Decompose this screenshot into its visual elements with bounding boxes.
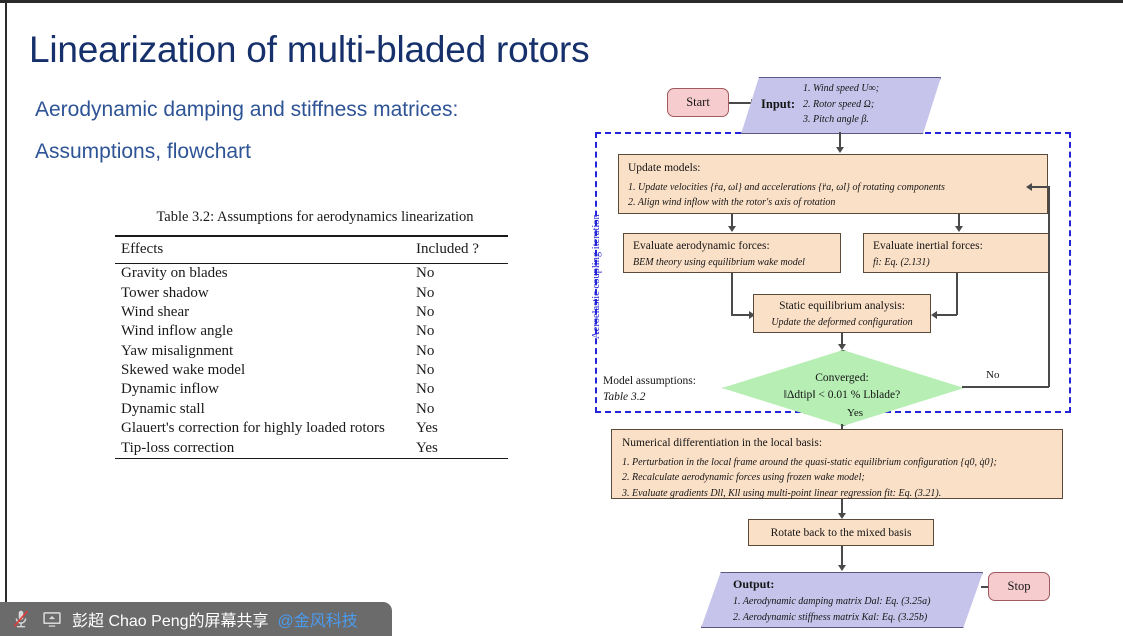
edge-aero-down <box>731 273 733 315</box>
input-node[interactable]: Input: 1. Wind speed U∞; 2. Rotor speed … <box>741 77 939 132</box>
decision-line-2: ‖Δdtip‖ < 0.01 % Lblade? <box>784 387 900 404</box>
inertial-forces-title: Evaluate inertial forces: <box>873 239 1039 255</box>
update-models-node[interactable]: Update models: 1. Update velocities {ṙa,… <box>618 154 1048 214</box>
table-row: Tip-loss correctionYes <box>115 438 508 458</box>
table-cell-included: No <box>412 361 508 380</box>
slide-subtitle-primary: Aerodynamic damping and stiffness matric… <box>35 98 458 122</box>
input-item: 2. Rotor speed Ω; <box>803 97 879 113</box>
aeroelastic-flowchart: Aeroelastic coupling iteration Start Inp… <box>583 69 1123 629</box>
table-cell-included: No <box>412 303 508 322</box>
rotate-back-node[interactable]: Rotate back to the mixed basis <box>748 519 934 546</box>
input-node-title: Input: <box>761 97 795 112</box>
table-cell-effect: Tip-loss correction <box>115 438 412 458</box>
output-node-items: 1. Aerodynamic damping matrix Dal: Eq. (… <box>733 594 930 625</box>
edge-rotate-to-output <box>841 546 843 567</box>
arrowhead-update-aero <box>728 226 736 232</box>
table-caption: Table 3.2: Assumptions for aerodynamics … <box>115 209 515 226</box>
evaluate-inertial-forces-node[interactable]: Evaluate inertial forces: fi: Eq. (2.131… <box>863 233 1049 273</box>
static-eq-title: Static equilibrium analysis: <box>763 299 921 315</box>
arrowhead-rotate-output <box>838 565 846 571</box>
table-row: Wind inflow angleNo <box>115 322 508 341</box>
model-assumptions-note: Model assumptions: Table 3.2 <box>603 373 696 405</box>
presentation-slide: Linearization of multi-bladed rotors Aer… <box>7 3 1123 636</box>
decision-line-1: Converged: <box>815 370 868 387</box>
assumptions-table: Effects Included ? Gravity on bladesNoTo… <box>115 235 508 459</box>
input-node-items: 1. Wind speed U∞; 2. Rotor speed Ω; 3. P… <box>803 81 879 128</box>
update-models-item: 2. Align wind inflow with the rotor's ax… <box>628 195 1038 211</box>
numdiff-item: 2. Recalculate aerodynamic forces using … <box>622 470 1052 486</box>
aero-forces-title: Evaluate aerodynamic forces: <box>633 239 831 255</box>
arrowhead-input-update <box>836 147 844 153</box>
table-cell-included: No <box>412 342 508 361</box>
loop-region-label: Aeroelastic coupling iteration <box>591 214 602 339</box>
screen-share-presenter-label: 彭超 Chao Peng的屏幕共享 <box>72 607 269 631</box>
slide-subtitle-secondary: Assumptions, flowchart <box>35 140 251 164</box>
screen-share-host-label: @金风科技 <box>278 607 358 631</box>
model-assumptions-ref: Table 3.2 <box>603 389 696 405</box>
table-cell-included: No <box>412 322 508 341</box>
table-body: Gravity on bladesNoTower shadowNoWind sh… <box>115 264 508 459</box>
column-header-included: Included ? <box>412 236 508 264</box>
table-cell-effect: Tower shadow <box>115 283 412 302</box>
static-equilibrium-node[interactable]: Static equilibrium analysis: Update the … <box>753 294 931 333</box>
table-cell-effect: Glauert's correction for highly loaded r… <box>115 419 412 438</box>
table-cell-included: Yes <box>412 419 508 438</box>
input-item: 1. Wind speed U∞; <box>803 81 879 97</box>
model-assumptions-title: Model assumptions: <box>603 373 696 389</box>
screen-share-taskbar[interactable]: 彭超 Chao Peng的屏幕共享 @金风科技 <box>0 602 392 636</box>
start-node[interactable]: Start <box>667 88 729 117</box>
arrowhead-inertial-static <box>931 311 937 319</box>
aero-forces-sub: BEM theory using equilibrium wake model <box>633 255 831 270</box>
numerical-differentiation-node[interactable]: Numerical differentiation in the local b… <box>611 429 1063 499</box>
assumptions-table-block: Table 3.2: Assumptions for aerodynamics … <box>115 209 515 459</box>
convergence-decision-node[interactable]: Converged: ‖Δdtip‖ < 0.01 % Lblade? <box>722 350 962 424</box>
table-row: Wind shearNo <box>115 303 508 322</box>
page-title: Linearization of multi-bladed rotors <box>29 29 589 71</box>
table-cell-included: No <box>412 380 508 399</box>
table-cell-included: No <box>412 400 508 419</box>
update-models-title: Update models: <box>628 161 1038 177</box>
table-cell-included: No <box>412 264 508 284</box>
table-header: Effects Included ? <box>115 236 508 264</box>
screen-share-icon[interactable] <box>41 608 63 630</box>
numdiff-items: 1. Perturbation in the local frame aroun… <box>622 455 1052 502</box>
update-models-items: 1. Update velocities {ṙa, ωl} and accele… <box>628 180 1038 211</box>
table-cell-effect: Dynamic inflow <box>115 380 412 399</box>
stop-node-label: Stop <box>1008 579 1031 594</box>
edge-inertial-down <box>956 273 958 315</box>
arrowhead-update-inertial <box>955 226 963 232</box>
stop-node[interactable]: Stop <box>988 572 1050 601</box>
edge-no-right <box>962 386 1049 388</box>
table-row: Dynamic inflowNo <box>115 380 508 399</box>
table-cell-effect: Yaw misalignment <box>115 342 412 361</box>
edge-no-up <box>1048 186 1050 387</box>
numdiff-item: 3. Evaluate gradients Dll, Kll using mul… <box>622 486 1052 502</box>
microphone-muted-icon[interactable] <box>10 608 32 630</box>
table-cell-included: No <box>412 283 508 302</box>
table-cell-effect: Skewed wake model <box>115 361 412 380</box>
edge-no-into-update <box>1031 186 1049 188</box>
table-row: Dynamic stallNo <box>115 400 508 419</box>
start-node-label: Start <box>686 95 710 110</box>
inertial-forces-sub: fi: Eq. (2.131) <box>873 255 1039 270</box>
rotate-back-label: Rotate back to the mixed basis <box>771 527 912 539</box>
table-row: Yaw misalignmentNo <box>115 342 508 361</box>
update-models-item: 1. Update velocities {ṙa, ωl} and accele… <box>628 180 1038 196</box>
edge-label-no: No <box>986 369 999 381</box>
table-header-row: Effects Included ? <box>115 236 508 264</box>
table-cell-effect: Dynamic stall <box>115 400 412 419</box>
table-row: Skewed wake modelNo <box>115 361 508 380</box>
numdiff-item: 1. Perturbation in the local frame aroun… <box>622 455 1052 471</box>
table-cell-effect: Wind shear <box>115 303 412 322</box>
table-cell-included: Yes <box>412 438 508 458</box>
table-row: Gravity on bladesNo <box>115 264 508 284</box>
static-eq-sub: Update the deformed configuration <box>763 315 921 330</box>
output-node[interactable]: Output: 1. Aerodynamic damping matrix Da… <box>701 572 981 626</box>
numdiff-title: Numerical differentiation in the local b… <box>622 436 1052 452</box>
output-node-title: Output: <box>733 577 930 592</box>
table-cell-effect: Gravity on blades <box>115 264 412 284</box>
edge-aero-right <box>731 314 751 316</box>
edge-inertial-left <box>935 314 957 316</box>
evaluate-aerodynamic-forces-node[interactable]: Evaluate aerodynamic forces: BEM theory … <box>623 233 841 273</box>
table-row: Glauert's correction for highly loaded r… <box>115 419 508 438</box>
table-cell-effect: Wind inflow angle <box>115 322 412 341</box>
output-item: 1. Aerodynamic damping matrix Dal: Eq. (… <box>733 594 930 610</box>
output-item: 2. Aerodynamic stiffness matrix Kal: Eq.… <box>733 610 930 626</box>
input-item: 3. Pitch angle β. <box>803 112 879 128</box>
column-header-effects: Effects <box>115 236 412 264</box>
table-row: Tower shadowNo <box>115 283 508 302</box>
arrowhead-no-update <box>1026 183 1032 191</box>
